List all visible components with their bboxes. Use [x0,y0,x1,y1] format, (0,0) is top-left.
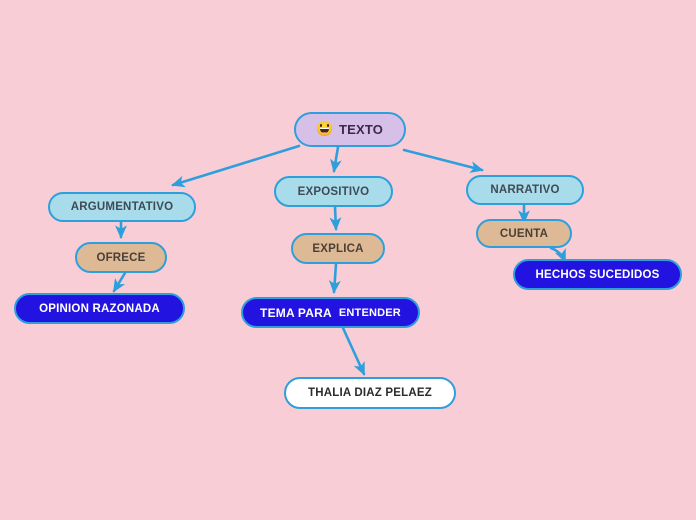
node-opinion-razonada-label: OPINION RAZONADA [39,303,160,315]
node-tema-para-entender[interactable]: TEMA PARA ENTENDER [241,297,420,328]
node-root-label: TEXTO [339,122,383,137]
node-argumentativo-label: ARGUMENTATIVO [71,201,173,213]
node-cuenta-label: CUENTA [500,228,548,240]
node-expositivo-label: EXPOSITIVO [298,186,370,198]
node-explica[interactable]: EXPLICA [291,233,385,264]
node-tema-label-b: ENTENDER [339,307,401,319]
node-cuenta[interactable]: CUENTA [476,219,572,248]
edge-expositivo-explica [335,207,336,229]
node-tema-label-a: TEMA PARA [260,306,332,320]
grinning-face-icon [317,121,332,139]
node-expositivo[interactable]: EXPOSITIVO [274,176,393,207]
node-narrativo[interactable]: NARRATIVO [466,175,584,205]
node-explica-label: EXPLICA [312,243,363,255]
edge-explica-tema [334,264,336,292]
edge-tema-author [343,328,364,374]
edge-ofrece-opinion [114,273,125,291]
edge-root-narrativo [404,150,482,170]
node-argumentativo[interactable]: ARGUMENTATIVO [48,192,196,222]
node-author-label: THALIA DIAZ PELAEZ [308,387,432,399]
node-author-thalia-diaz-pelaez[interactable]: THALIA DIAZ PELAEZ [284,377,456,409]
node-opinion-razonada[interactable]: OPINION RAZONADA [14,293,185,324]
edge-root-expositivo [334,147,338,171]
node-hechos-sucedidos[interactable]: HECHOS SUCEDIDOS [513,259,682,290]
node-root-texto[interactable]: TEXTO [294,112,406,147]
node-ofrece[interactable]: OFRECE [75,242,167,273]
node-narrativo-label: NARRATIVO [490,184,559,196]
mindmap-canvas: TEXTO ARGUMENTATIVO EXPOSITIVO NARRATIVO… [0,0,696,520]
node-ofrece-label: OFRECE [96,252,145,264]
node-hechos-sucedidos-label: HECHOS SUCEDIDOS [536,269,660,281]
